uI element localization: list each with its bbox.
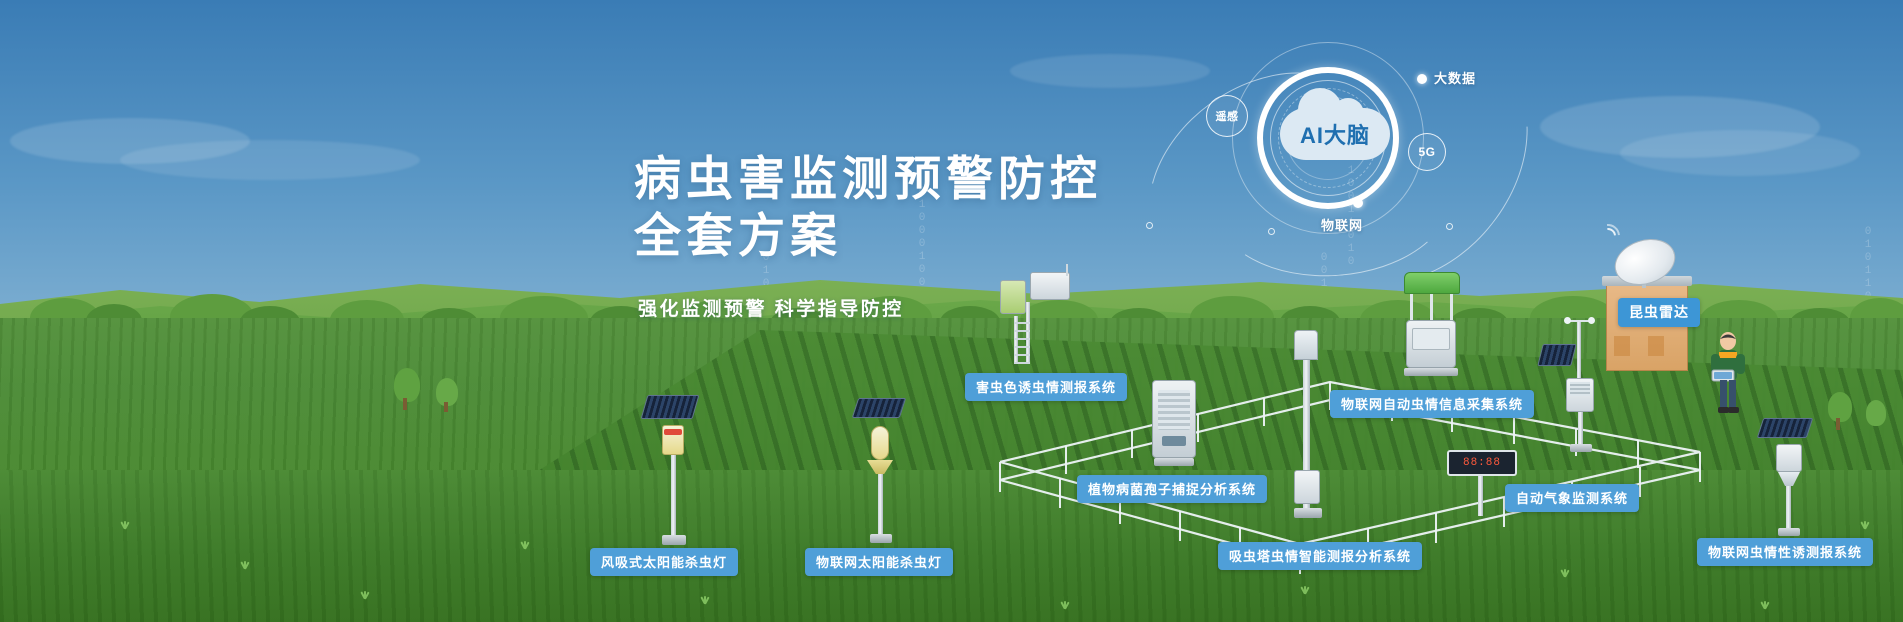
lamp-base	[662, 535, 686, 545]
cabinet-base	[1154, 458, 1194, 466]
lamp-housing	[871, 426, 889, 460]
weather-mast	[1577, 322, 1581, 380]
cloud-shape-4	[1620, 130, 1860, 176]
worker-figure	[1702, 330, 1754, 420]
ai-brain-label: AI大脑	[1280, 118, 1390, 150]
connector-endpoint-dot	[1446, 223, 1453, 230]
device-iot-solar-lamp[interactable]	[855, 398, 919, 548]
cabinet-panel	[1412, 328, 1450, 350]
tree-shape	[394, 368, 420, 402]
tower-leg	[1450, 294, 1453, 320]
label-iot-auto-pest-info-collection[interactable]: 物联网自动虫情信息采集系统	[1330, 390, 1534, 418]
led-board-pole	[1478, 476, 1483, 516]
device-color-lure-forecast-system[interactable]	[1000, 272, 1080, 372]
crop-sprig	[700, 595, 709, 604]
lamp-pole	[671, 455, 676, 537]
node-dot-big-data	[1417, 74, 1427, 84]
node-dot-iot	[1353, 198, 1363, 208]
tree-shape	[403, 398, 407, 410]
label-auto-weather-monitoring-system[interactable]: 自动气象监测系统	[1505, 484, 1639, 512]
solar-panel	[852, 398, 906, 418]
crop-sprig	[1300, 585, 1309, 594]
anemometer-cup	[1588, 317, 1595, 324]
device-iot-auto-pest-info-collection[interactable]	[1398, 272, 1474, 392]
lamp-funnel	[867, 460, 893, 474]
page-title: 病虫害监测预警防控 全套方案	[634, 150, 1102, 264]
device-iot-pheromone-forecast-system[interactable]	[1760, 418, 1830, 542]
tree-shape	[1866, 400, 1886, 426]
control-box	[1030, 272, 1070, 300]
lamp-indicator	[664, 429, 682, 435]
tower-leg	[1430, 294, 1433, 320]
tree-shape	[444, 402, 448, 412]
trap-pole	[1786, 486, 1791, 530]
building-window	[1648, 336, 1664, 356]
tower-canopy	[1404, 272, 1460, 294]
tower-leg	[1410, 294, 1413, 320]
crop-sprig	[1560, 568, 1569, 577]
crop-sprig	[1860, 520, 1869, 529]
box-vent	[1570, 382, 1590, 396]
title-line-1: 病虫害监测预警防控	[634, 150, 1102, 207]
tower-control-box	[1294, 470, 1320, 504]
solar-panel	[641, 395, 700, 419]
building-window	[1614, 336, 1630, 356]
trap-funnel	[1778, 472, 1800, 486]
label-suction-tower-forecast-system[interactable]: 吸虫塔虫情智能测报分析系统	[1218, 542, 1422, 570]
badge-5g[interactable]: 5G	[1408, 133, 1446, 171]
collector-base	[1404, 368, 1458, 376]
cabinet-vent	[1158, 390, 1190, 430]
cabinet-screen	[1162, 436, 1186, 446]
trap-base	[1778, 528, 1800, 536]
ladder-rungs	[1014, 322, 1030, 364]
label-wind-suction-solar-lamp[interactable]: 风吸式太阳能杀虫灯	[590, 548, 738, 576]
led-display-board[interactable]: 88:88	[1447, 450, 1517, 476]
tree-shape	[1836, 418, 1840, 430]
suction-head	[1294, 330, 1318, 360]
label-spore-capture-analysis-system[interactable]: 植物病菌孢子捕捉分析系统	[1077, 475, 1267, 503]
tree-shape	[1828, 392, 1852, 422]
crop-sprig	[360, 590, 369, 599]
solar-panel	[1537, 344, 1576, 366]
label-color-lure-forecast-system[interactable]: 害虫色诱虫情测报系统	[965, 373, 1127, 401]
tower-base	[1294, 508, 1322, 518]
crop-sprig	[1060, 600, 1069, 609]
pheromone-trap-box	[1776, 444, 1802, 472]
label-iot-pheromone-forecast-system[interactable]: 物联网虫情性诱测报系统	[1697, 538, 1873, 566]
antenna-icon	[1066, 264, 1068, 276]
device-spore-capture-analysis-system[interactable]	[1152, 380, 1206, 478]
anemometer-cup	[1564, 317, 1571, 324]
cloud-shape-2	[120, 140, 420, 180]
title-line-2: 全套方案	[634, 207, 1102, 264]
crop-sprig	[1760, 600, 1769, 609]
radar-building	[1606, 283, 1688, 371]
lamp-base	[870, 534, 892, 543]
ai-brain-diagram: AI大脑 遥感 5G 大数据 物联网	[1118, 30, 1598, 260]
label-iot-solar-lamp[interactable]: 物联网太阳能杀虫灯	[805, 548, 953, 576]
badge-remote-sensing[interactable]: 遥感	[1206, 95, 1248, 137]
node-label-big-data: 大数据	[1434, 68, 1476, 87]
weather-pole	[1578, 412, 1583, 446]
illustration-banner: 0100010011101 010011010 0101101001110 01…	[0, 0, 1903, 622]
device-suction-tower-forecast-system[interactable]	[1288, 330, 1328, 540]
device-wind-suction-solar-lamp[interactable]	[640, 395, 710, 550]
solar-panel	[1757, 418, 1813, 438]
connector-endpoint-dot	[1146, 222, 1153, 229]
weather-base	[1570, 444, 1592, 452]
page-subtitle: 强化监测预警 科学指导防控	[638, 294, 904, 321]
connector-endpoint-dot	[1268, 228, 1275, 235]
node-label-iot: 物联网	[1321, 215, 1363, 234]
crop-sprig	[240, 560, 249, 569]
label-insect-radar[interactable]: 昆虫雷达	[1618, 298, 1700, 327]
crop-sprig	[120, 520, 129, 529]
crop-sprig	[520, 540, 529, 549]
lamp-pole	[878, 474, 883, 536]
lure-panel-green	[1000, 280, 1026, 314]
